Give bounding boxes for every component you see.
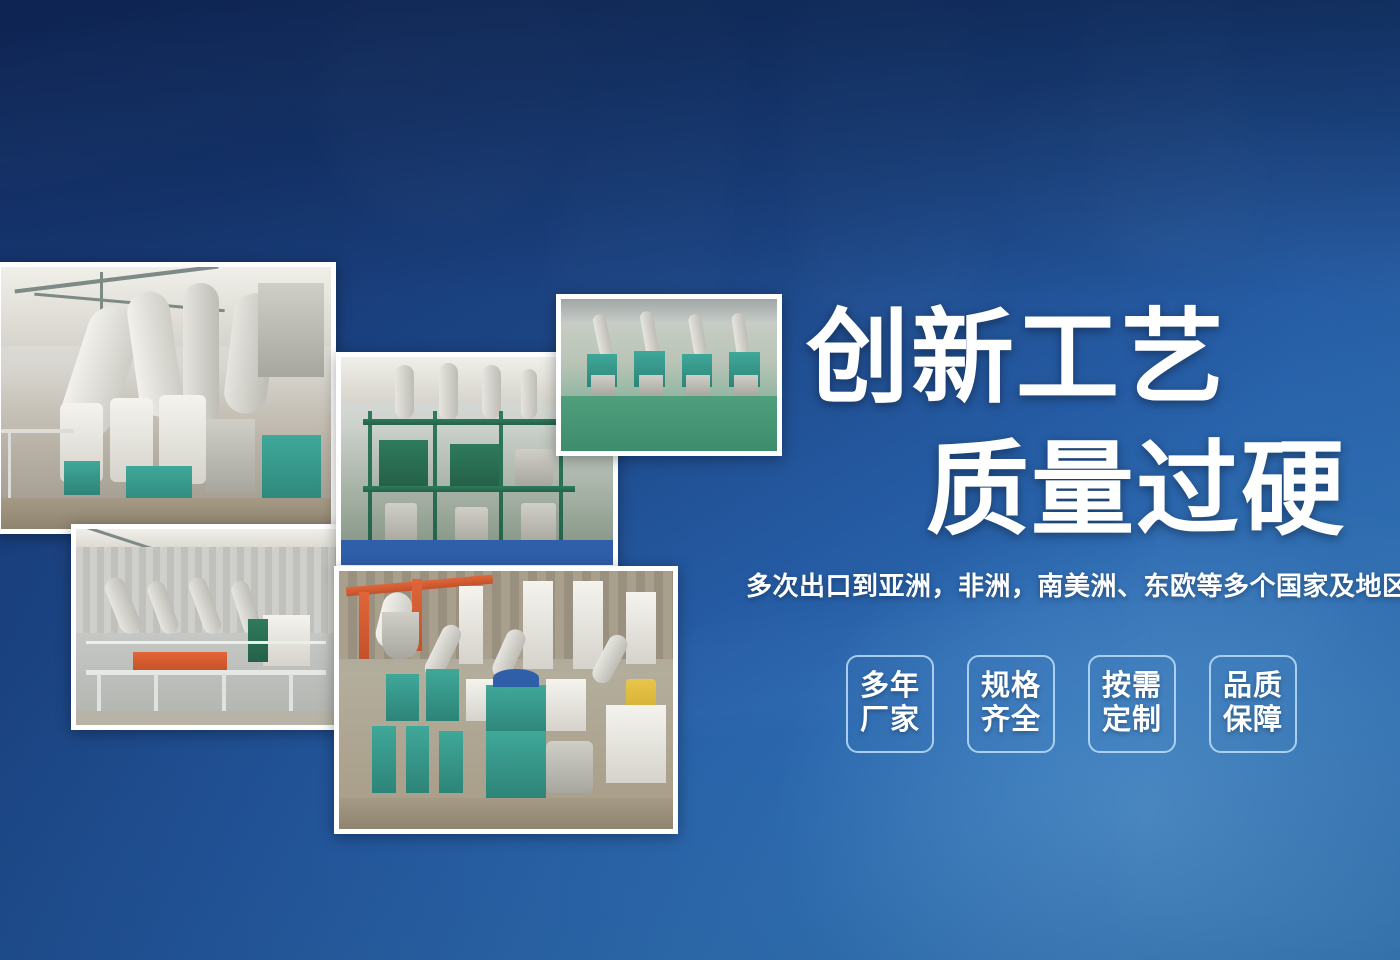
collage-photo-2 <box>71 524 341 730</box>
feature-badges: 多年 厂家 规格 齐全 按需 定制 品质 保障 <box>846 655 1297 753</box>
collage-photo-1 <box>0 262 336 534</box>
feature-badge-custom[interactable]: 按需 定制 <box>1088 655 1176 753</box>
feature-badge-custom-line-2: 定制 <box>1102 704 1162 738</box>
feature-badge-custom-line-1: 按需 <box>1102 670 1162 704</box>
headline: 创新工艺 质量过硬 <box>806 292 1400 556</box>
headline-line-2: 质量过硬 <box>926 424 1400 556</box>
feature-badge-specs-line-2: 齐全 <box>981 704 1041 738</box>
subtitle: 多次出口到亚洲，非洲，南美洲、东欧等多个国家及地区 <box>746 566 1400 603</box>
feature-badge-years[interactable]: 多年 厂家 <box>846 655 934 753</box>
feature-badge-quality[interactable]: 品质 保障 <box>1209 655 1297 753</box>
collage-photo-4 <box>556 294 782 456</box>
feature-badge-specs-line-1: 规格 <box>981 670 1041 704</box>
feature-badge-quality-line-2: 保障 <box>1223 704 1283 738</box>
feature-badge-quality-line-1: 品质 <box>1223 670 1283 704</box>
collage-photo-5 <box>334 566 678 834</box>
feature-badge-years-line-2: 厂家 <box>860 704 920 738</box>
promo-banner: 创新工艺 质量过硬 多次出口到亚洲，非洲，南美洲、东欧等多个国家及地区 多年 厂… <box>0 0 1400 960</box>
feature-badge-years-line-1: 多年 <box>860 670 920 704</box>
headline-line-1: 创新工艺 <box>806 292 1400 424</box>
feature-badge-specs[interactable]: 规格 齐全 <box>967 655 1055 753</box>
